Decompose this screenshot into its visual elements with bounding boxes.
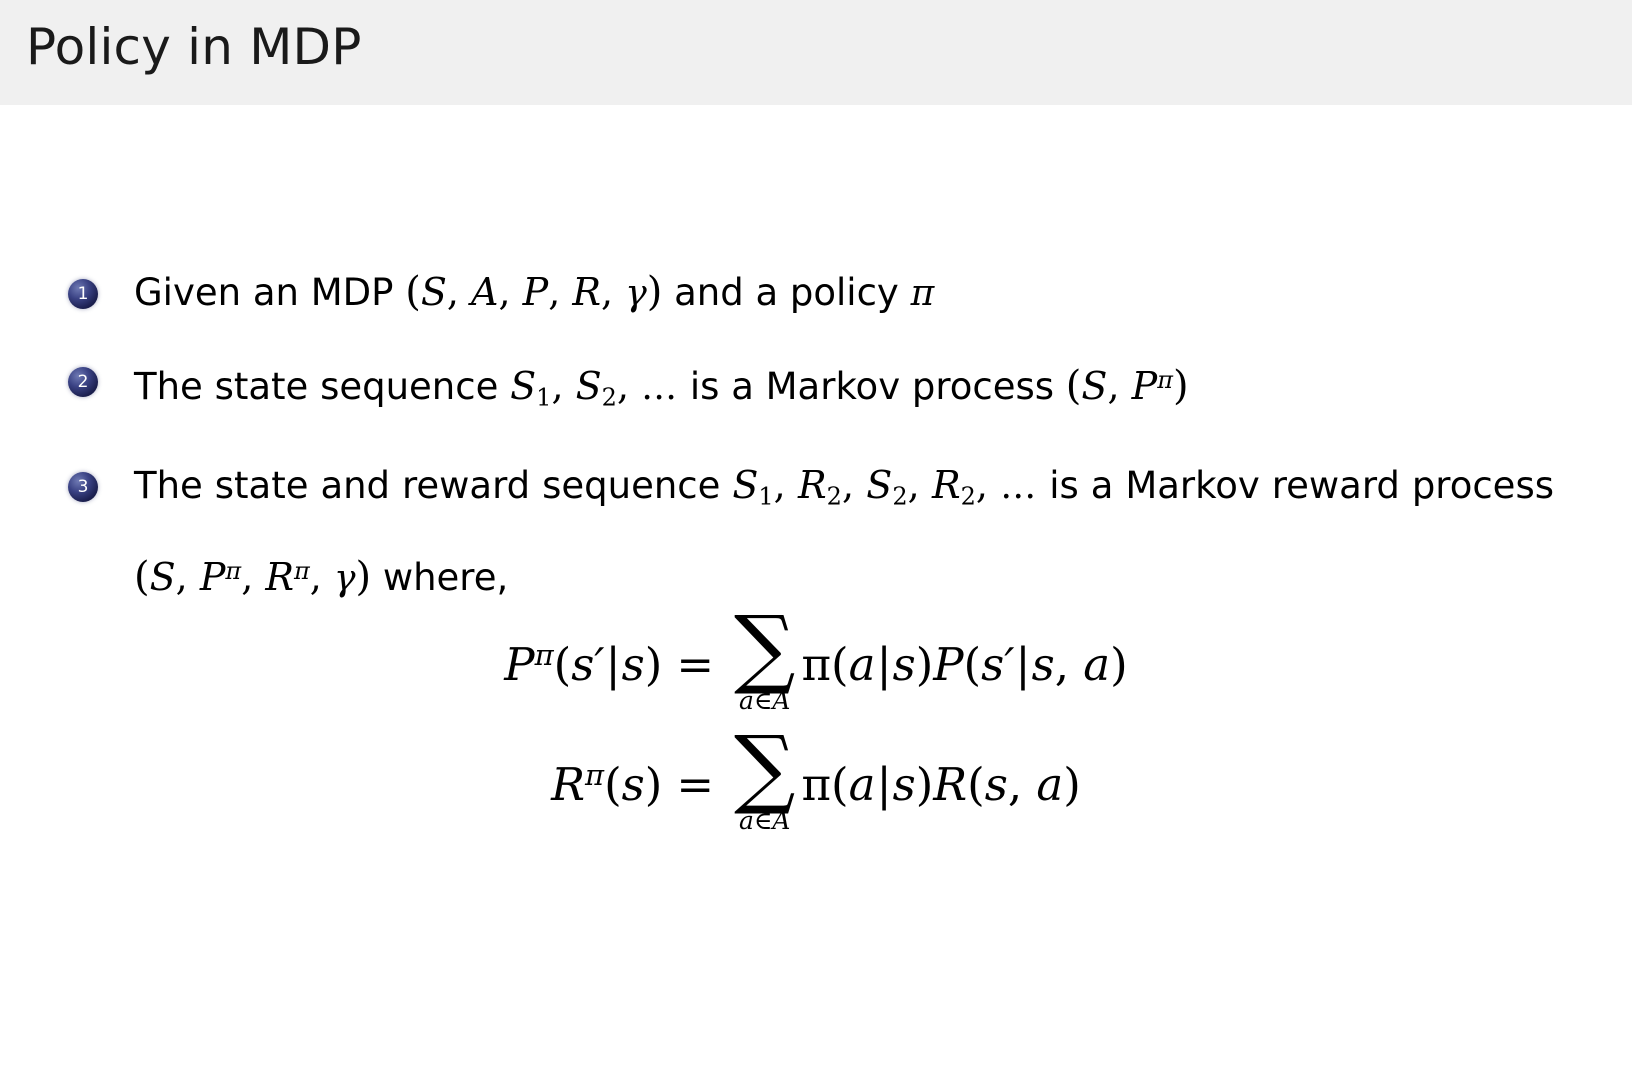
item3-suffix: where,: [371, 556, 508, 599]
symbol-a: a: [849, 758, 876, 811]
item2-middle: is a Markov process: [678, 365, 1066, 408]
paren-open-3: (: [964, 638, 982, 691]
comma-1: ,: [1055, 638, 1084, 691]
symbol-gamma: γ: [625, 273, 647, 314]
symbol-S2: S: [866, 463, 892, 507]
equation-reward-policy: Rπ(s) = ∑ a∈A π(a|s)R(s, a): [0, 735, 1632, 833]
comma-2: ,: [842, 463, 866, 507]
limit-variable: a: [739, 686, 754, 715]
equals-sign: =: [662, 642, 728, 687]
item1-paren-close: ): [647, 269, 663, 315]
paren-open-2: (: [831, 638, 849, 691]
slide-body: 1 Given an MDP (S, A, P, R, γ) and a pol…: [0, 105, 1632, 1080]
equation-1-lhs: Pπ(s′|s): [504, 641, 662, 687]
comma-7: ,: [310, 555, 334, 599]
symbol-P-2: P: [933, 638, 963, 691]
item2-paren-open: (: [1066, 363, 1082, 409]
symbol-pi: π: [801, 758, 831, 811]
element-of-icon: ∈: [754, 806, 773, 835]
subscript-1: 1: [758, 482, 773, 510]
symbol-s-2: s: [893, 638, 916, 691]
subscript-2: 2: [602, 384, 617, 412]
subscript-1: 1: [536, 384, 551, 412]
symbol-s-2: s: [893, 758, 916, 811]
symbol-P: P: [1132, 364, 1158, 408]
item2-paren-close: ): [1173, 363, 1189, 409]
paren-close: ): [645, 638, 663, 691]
comma-1: ,: [447, 270, 471, 314]
symbol-s-prime-2: s′: [981, 638, 1014, 691]
conditional-bar-2: |: [875, 638, 892, 691]
summation-limit: a∈A: [739, 688, 790, 713]
symbol-P: P: [504, 638, 534, 691]
conditional-bar-3: |: [1014, 638, 1031, 691]
symbol-pi: π: [801, 638, 831, 691]
paren-close-2: ): [916, 758, 934, 811]
symbol-s: s: [622, 758, 645, 811]
symbol-R: R: [265, 555, 294, 599]
symbol-S2: S: [576, 364, 602, 408]
list-item-number-badge: 3: [68, 472, 98, 502]
comma-4: ,: [976, 463, 1000, 507]
item3-paren-open: (: [134, 554, 150, 600]
paren-close-2: ): [916, 638, 934, 691]
sigma-icon: ∑: [734, 735, 795, 802]
symbol-s: s: [622, 638, 645, 691]
symbol-pi: π: [911, 273, 935, 314]
list-item-number-badge: 1: [68, 279, 98, 309]
paren-close: ): [645, 758, 663, 811]
symbol-R-2: R: [933, 758, 967, 811]
limit-variable: a: [739, 806, 754, 835]
comma-1: ,: [551, 364, 575, 408]
symbol-a-2: a: [1083, 638, 1110, 691]
summation-limit: a∈A: [739, 808, 790, 833]
symbol-R2: R: [798, 463, 827, 507]
symbol-R: R: [551, 758, 585, 811]
symbol-s-prime: s′: [571, 638, 604, 691]
comma-5: ,: [176, 555, 200, 599]
comma-1: ,: [1008, 758, 1037, 811]
symbol-a-2: a: [1036, 758, 1063, 811]
symbol-s-3: s: [1032, 638, 1055, 691]
equation-1-rhs: π(a|s)P(s′|s, a): [801, 642, 1127, 687]
superscript-pi: π: [535, 638, 554, 672]
superscript-pi: π: [585, 758, 604, 792]
superscript-pi-r: π: [294, 557, 310, 585]
subscript-4: 2: [961, 482, 976, 510]
list-item: 2 The state sequence S1, S2, … is a Mark…: [62, 343, 1554, 436]
paren-open-2: (: [831, 758, 849, 811]
item3-middle: is a Markov reward process: [1037, 464, 1554, 507]
limit-set: A: [772, 806, 790, 835]
superscript-pi: π: [1157, 366, 1173, 394]
summation-2: ∑ a∈A: [734, 735, 795, 833]
symbol-A: A: [471, 270, 498, 314]
subscript-2: 2: [827, 482, 842, 510]
slide-header: Policy in MDP: [0, 0, 1632, 105]
paren-open: (: [554, 638, 572, 691]
list-item-number-badge: 2: [68, 367, 98, 397]
symbol-S: S: [150, 555, 176, 599]
ellipsis: …: [1000, 466, 1037, 507]
list-item-text: The state sequence S1, S2, … is a Markov…: [134, 365, 1189, 408]
symbol-R2b: R: [932, 463, 961, 507]
comma-1: ,: [774, 463, 798, 507]
item1-prefix: Given an MDP: [134, 271, 405, 314]
equation-2-lhs: Rπ(s): [551, 761, 662, 807]
paren-open: (: [604, 758, 622, 811]
comma-3: ,: [908, 463, 932, 507]
paren-open-3: (: [967, 758, 985, 811]
comma-3: ,: [548, 270, 572, 314]
symbol-S: S: [1081, 364, 1107, 408]
conditional-bar: |: [605, 638, 622, 691]
symbol-s-3: s: [985, 758, 1008, 811]
page-title: Policy in MDP: [26, 16, 362, 78]
list-item-text: Given an MDP (S, A, P, R, γ) and a polic…: [134, 271, 934, 314]
symbol-a: a: [849, 638, 876, 691]
equation-block: Pπ(s′|s) = ∑ a∈A π(a|s)P(s′|s, a) Rπ(s) …: [0, 615, 1632, 833]
comma-2: ,: [617, 364, 641, 408]
item1-paren-open: (: [405, 269, 421, 315]
symbol-S: S: [421, 270, 447, 314]
equation-2-rhs: π(a|s)R(s, a): [801, 762, 1080, 807]
comma-2: ,: [498, 270, 522, 314]
comma-6: ,: [241, 555, 265, 599]
ellipsis: …: [641, 367, 678, 408]
item1-middle: and a policy: [662, 271, 910, 314]
item3-paren-close: ): [355, 554, 371, 600]
paren-close-3: ): [1110, 638, 1128, 691]
equation-transition-policy: Pπ(s′|s) = ∑ a∈A π(a|s)P(s′|s, a): [0, 615, 1632, 713]
list-item: 1 Given an MDP (S, A, P, R, γ) and a pol…: [62, 255, 1554, 331]
sigma-icon: ∑: [734, 615, 795, 682]
symbol-S1: S: [510, 364, 536, 408]
symbol-P: P: [200, 555, 226, 599]
paren-close-3: ): [1063, 758, 1081, 811]
enumerated-list: 1 Given an MDP (S, A, P, R, γ) and a pol…: [62, 255, 1554, 616]
list-item-text: The state and reward sequence S1, R2, S2…: [134, 464, 1554, 600]
comma-3: ,: [1107, 364, 1131, 408]
comma-4: ,: [601, 270, 625, 314]
equals-sign: =: [662, 762, 728, 807]
symbol-gamma: γ: [334, 558, 356, 599]
list-item: 3 The state and reward sequence S1, R2, …: [62, 448, 1554, 617]
element-of-icon: ∈: [754, 686, 773, 715]
symbol-R: R: [572, 270, 601, 314]
conditional-bar-2: |: [875, 758, 892, 811]
summation-1: ∑ a∈A: [734, 615, 795, 713]
item3-prefix: The state and reward sequence: [134, 464, 732, 507]
symbol-P: P: [523, 270, 549, 314]
subscript-3: 2: [892, 482, 907, 510]
symbol-S1: S: [732, 463, 758, 507]
limit-set: A: [772, 686, 790, 715]
superscript-pi-p: π: [225, 557, 241, 585]
item2-prefix: The state sequence: [134, 365, 510, 408]
